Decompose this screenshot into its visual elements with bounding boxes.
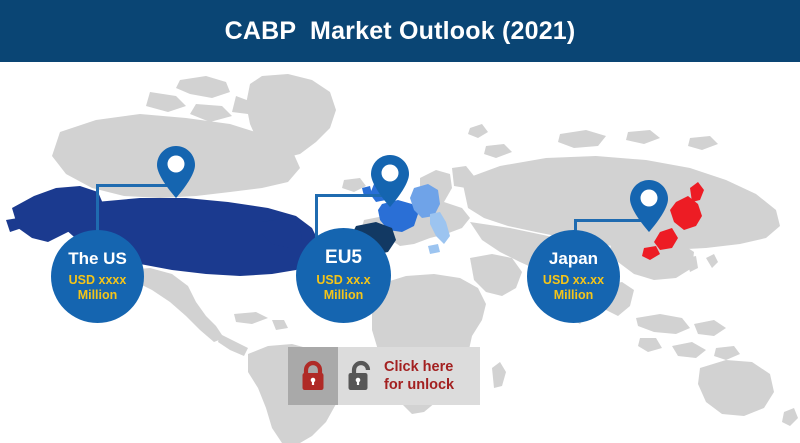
region-value-japan-line1: USD xx.xx [543, 273, 604, 288]
lock-open-icon [346, 360, 372, 392]
unlocked-tile[interactable] [338, 347, 380, 405]
region-bubble-japan[interactable]: Japan USD xx.xx Million [527, 230, 620, 323]
unlock-label-line2: for unlock [384, 376, 454, 394]
region-value-us-line2: Million [78, 288, 118, 303]
locked-tile[interactable] [288, 347, 338, 405]
map-pin-us[interactable] [157, 146, 195, 198]
lock-closed-icon [300, 360, 326, 392]
region-name-us: The US [68, 250, 127, 268]
region-bubble-eu5[interactable]: EU5 USD xx.x Million [296, 228, 391, 323]
market-outlook-infographic: CABP Market Outlook (2021) [0, 0, 800, 443]
unlock-label[interactable]: Click here for unlock [380, 358, 454, 394]
region-value-japan-line2: Million [554, 288, 594, 303]
unlock-label-line1: Click here [384, 358, 454, 376]
header-banner: CABP Market Outlook (2021) [0, 0, 800, 62]
region-name-eu5: EU5 [325, 248, 362, 268]
page-title: CABP Market Outlook (2021) [225, 17, 576, 46]
region-value-us-line1: USD xxxx [69, 273, 127, 288]
map-pin-eu5[interactable] [371, 155, 409, 207]
unlock-widget[interactable]: Click here for unlock [288, 347, 480, 405]
region-value-eu5-line2: Million [324, 288, 364, 303]
map-pin-japan[interactable] [630, 180, 668, 232]
region-bubble-us[interactable]: The US USD xxxx Million [51, 230, 144, 323]
region-name-japan: Japan [549, 250, 598, 268]
region-value-eu5-line1: USD xx.x [316, 273, 370, 288]
